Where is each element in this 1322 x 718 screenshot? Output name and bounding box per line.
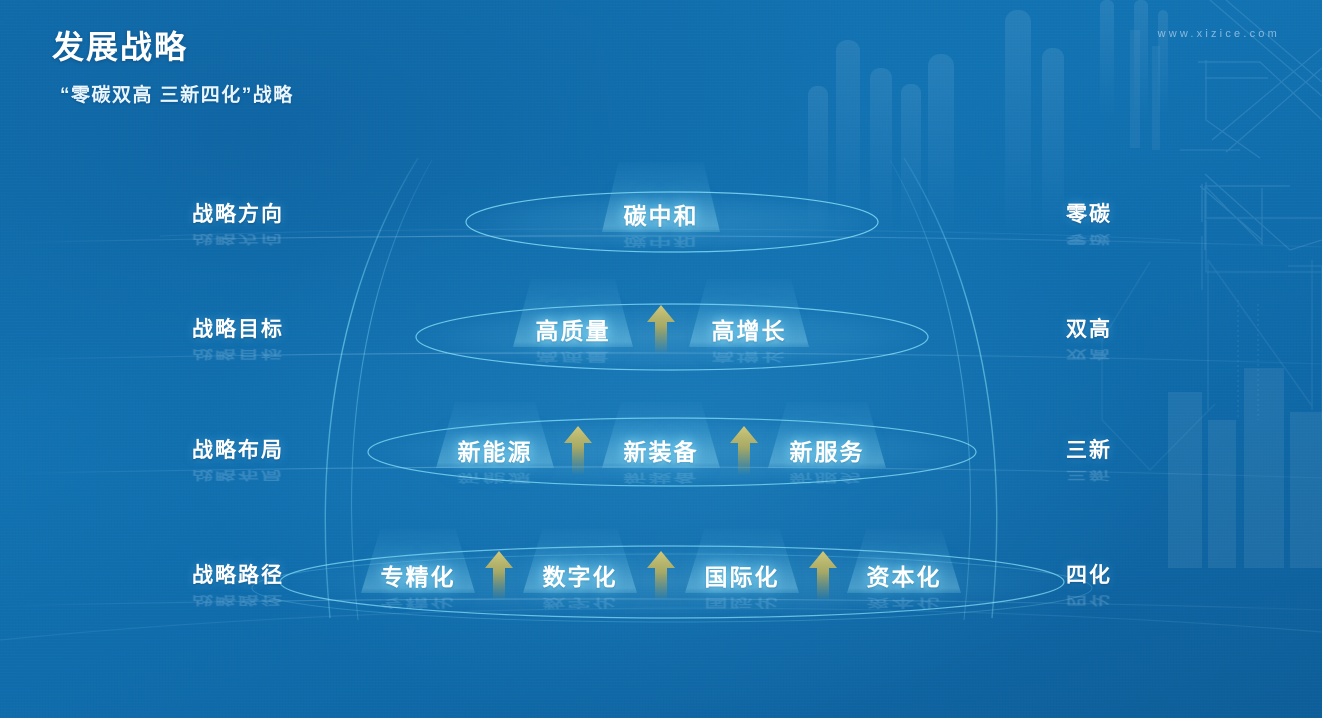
strategy-node-label: 资本化 资本化 <box>867 558 942 592</box>
page-subtitle: “零碳双高 三新四化”战略 <box>60 80 294 107</box>
strategy-node-text: 国际化 <box>705 564 780 590</box>
strategy-node-label: 专精化 专精化 <box>381 558 456 592</box>
strategy-node-text: 数字化 <box>543 564 618 590</box>
row-right-label-layout: 三新 三新 <box>1066 434 1112 464</box>
strategy-node-label: 新能源 新能源 <box>458 433 533 467</box>
row-right-label-text: 零碳 <box>1066 203 1112 226</box>
row-right-label-text: 四化 <box>1066 564 1112 587</box>
strategy-node-reflection: 高质量 <box>536 350 611 367</box>
strategy-node-reflection: 专精化 <box>381 596 456 613</box>
up-arrow-icon <box>644 551 678 599</box>
strategy-node-label: 新装备 新装备 <box>624 433 699 467</box>
strategy-node-reflection: 资本化 <box>867 596 942 613</box>
row-right-label-text: 双高 <box>1066 318 1112 341</box>
strategy-node-label: 高增长 高增长 <box>712 312 787 346</box>
row-right-label-reflection: 零碳 <box>1066 232 1112 249</box>
strategy-node-reflection: 高增长 <box>712 350 787 367</box>
row-right-label-goal: 双高 双高 <box>1066 313 1112 343</box>
strategy-node-reflection: 数字化 <box>543 596 618 613</box>
strategy-node-label: 高质量 高质量 <box>536 312 611 346</box>
strategy-node-text: 碳中和 <box>624 203 699 229</box>
strategy-node-reflection: 国际化 <box>705 596 780 613</box>
up-arrow-icon <box>644 305 678 353</box>
strategy-node-label: 数字化 数字化 <box>543 558 618 592</box>
strategy-node-text: 新能源 <box>458 439 533 465</box>
row-left-label-reflection: 战略目标 <box>192 347 284 364</box>
strategy-node-label: 碳中和 碳中和 <box>624 197 699 231</box>
strategy-node-reflection: 新能源 <box>458 471 533 488</box>
strategy-node-text: 高质量 <box>536 318 611 344</box>
strategy-node-reflection: 新服务 <box>790 471 865 488</box>
row-left-label-direction: 战略方向 战略方向 <box>192 198 284 228</box>
up-arrow-icon <box>727 426 761 474</box>
strategy-node-reflection: 碳中和 <box>624 235 699 252</box>
page-title: 发展战略 <box>52 22 294 68</box>
row-right-label-direction: 零碳 零碳 <box>1066 198 1112 228</box>
row-left-label-text: 战略方向 <box>192 203 284 226</box>
watermark-url: www.xizice.com <box>1158 28 1280 40</box>
row-left-label-text: 战略布局 <box>192 439 284 462</box>
up-arrow-icon <box>806 551 840 599</box>
row-left-label-text: 战略路径 <box>192 564 284 587</box>
row-left-label-layout: 战略布局 战略布局 <box>192 434 284 464</box>
strategy-node-text: 资本化 <box>867 564 942 590</box>
row-left-label-reflection: 战略路径 <box>192 593 284 610</box>
row-left-label-reflection: 战略方向 <box>192 232 284 249</box>
slide-header: 发展战略 “零碳双高 三新四化”战略 <box>52 22 294 107</box>
row-left-label-reflection: 战略布局 <box>192 468 284 485</box>
slide-background: 战略方向 战略方向 零碳 零碳 碳中和 碳中和 战略目标 <box>0 0 1322 718</box>
strategy-node-label: 国际化 国际化 <box>705 558 780 592</box>
row-left-label-text: 战略目标 <box>192 318 284 341</box>
strategy-node-text: 高增长 <box>712 318 787 344</box>
row-left-label-path: 战略路径 战略路径 <box>192 559 284 589</box>
row-right-label-reflection: 三新 <box>1066 468 1112 485</box>
strategy-node-text: 专精化 <box>381 564 456 590</box>
strategy-node-text: 新服务 <box>790 439 865 465</box>
strategy-node-reflection: 新装备 <box>624 471 699 488</box>
up-arrow-icon <box>561 426 595 474</box>
row-left-label-goal: 战略目标 战略目标 <box>192 313 284 343</box>
strategy-node-label: 新服务 新服务 <box>790 433 865 467</box>
up-arrow-icon <box>482 551 516 599</box>
strategy-node-text: 新装备 <box>624 439 699 465</box>
row-right-label-reflection: 双高 <box>1066 347 1112 364</box>
row-right-label-path: 四化 四化 <box>1066 559 1112 589</box>
row-right-label-text: 三新 <box>1066 439 1112 462</box>
row-right-label-reflection: 四化 <box>1066 593 1112 610</box>
strategy-diagram: 战略方向 战略方向 零碳 零碳 碳中和 碳中和 战略目标 <box>0 0 1322 718</box>
